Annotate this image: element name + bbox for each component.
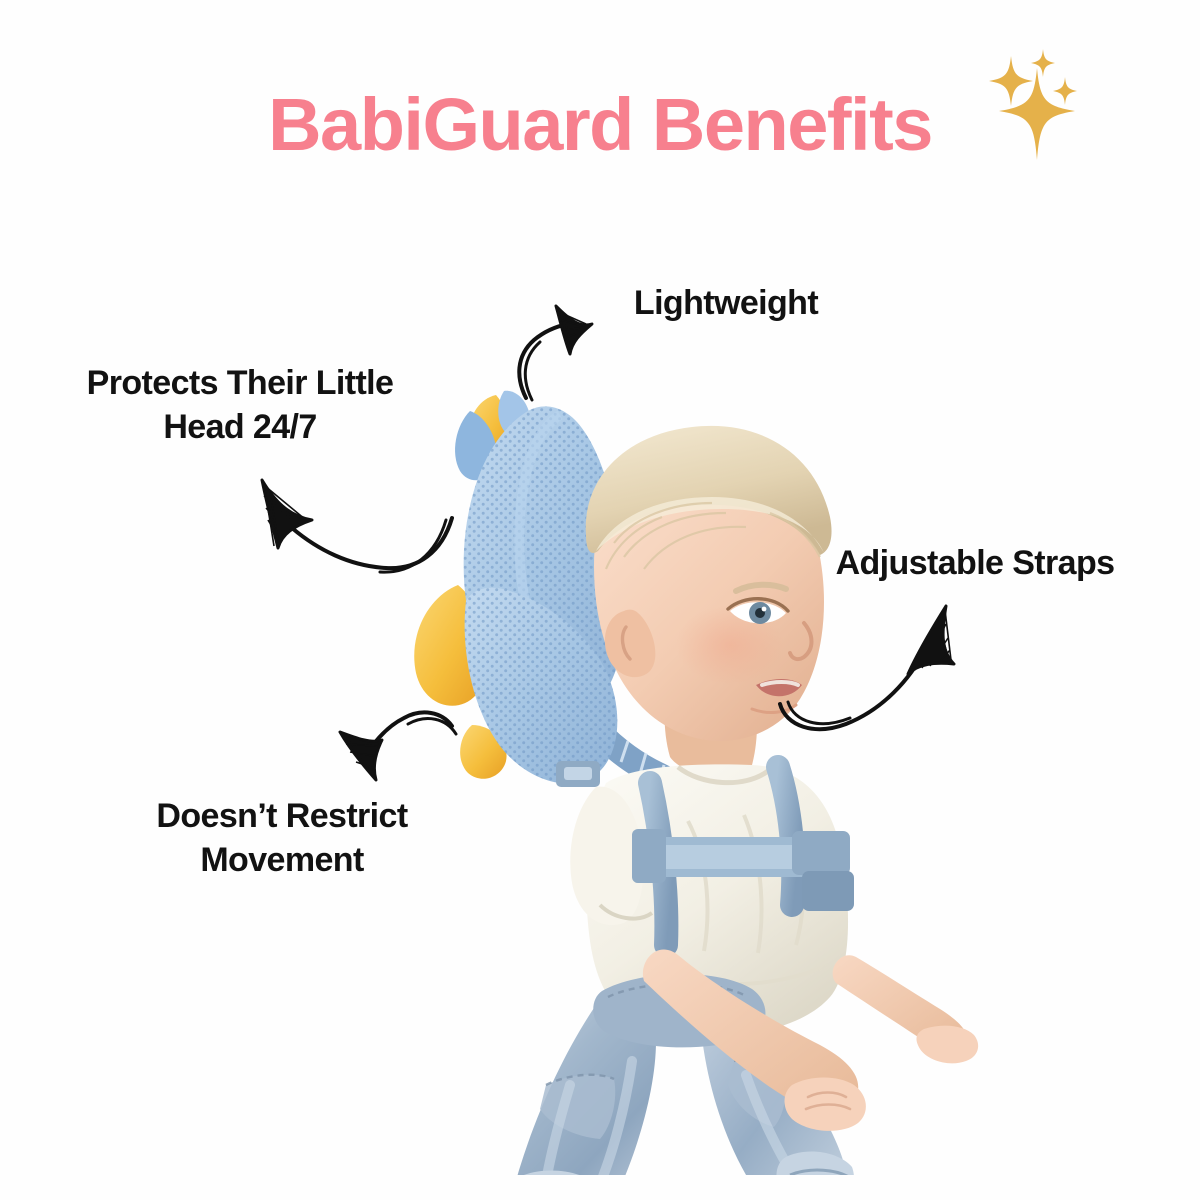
benefit-label-adjustable: Adjustable Straps: [765, 542, 1185, 586]
benefit-label-protects: Protects Their Little Head 24/7: [25, 362, 455, 449]
header-title-block: BabiGuard Benefits: [0, 88, 1200, 162]
marketing-graphic-canvas: BabiGuard Benefits: [0, 0, 1200, 1200]
sparkle-star-icon: [975, 48, 1115, 188]
baby-head: [586, 426, 832, 775]
baby-wearing-head-protection-harness: [400, 385, 1020, 1175]
benefit-label-lightweight: Lightweight: [566, 282, 886, 326]
benefit-label-movement: Doesn’t Restrict Movement: [82, 795, 482, 882]
baby-arm-secondary: [833, 955, 979, 1063]
page-title: BabiGuard Benefits: [268, 88, 932, 162]
